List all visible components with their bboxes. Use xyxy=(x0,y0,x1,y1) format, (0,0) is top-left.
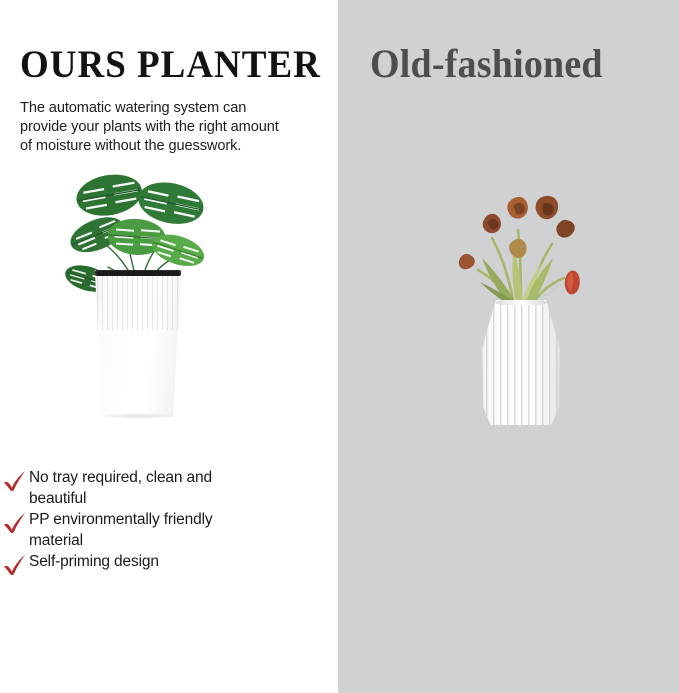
planter-ribbing xyxy=(92,270,184,330)
planter-shadow xyxy=(100,413,176,419)
list-item-line: Self-priming design xyxy=(29,552,159,573)
list-item: Self-priming design xyxy=(2,552,332,576)
ours-heading: OURS PLANTER xyxy=(20,45,321,84)
vase-fluting xyxy=(479,300,563,425)
list-item-line: No tray required, clean and xyxy=(29,468,212,489)
old-product-stage xyxy=(338,165,679,445)
ours-product-stage xyxy=(0,165,338,445)
check-icon xyxy=(2,554,28,576)
check-icon xyxy=(2,470,28,492)
panel-ours: OURS PLANTER The automatic watering syst… xyxy=(0,0,338,693)
white-square-planter-image xyxy=(92,270,184,417)
ours-description-line-3: of moisture without the guesswork. xyxy=(20,137,332,156)
old-fashioned-heading: Old-fashioned xyxy=(370,44,603,84)
list-item: PP environmentally friendly material xyxy=(2,510,332,551)
list-item-label: PP environmentally friendly material xyxy=(29,510,212,551)
ours-description: The automatic watering system can provid… xyxy=(20,99,332,156)
ours-description-line-2: provide your plants with the right amoun… xyxy=(20,118,332,137)
pros-list: No tray required, clean and beautiful PP… xyxy=(2,468,332,577)
list-item-line: beautiful xyxy=(29,489,212,510)
comparison-infographic: OURS PLANTER The automatic watering syst… xyxy=(0,0,679,693)
list-item-line: PP environmentally friendly xyxy=(29,510,212,531)
fluted-white-vase-image xyxy=(479,300,563,425)
list-item: No tray required, clean and beautiful xyxy=(2,468,332,509)
ours-description-line-1: The automatic watering system can xyxy=(20,99,332,118)
vase-mouth xyxy=(495,300,547,305)
panel-old-fashioned: Old-fashioned xyxy=(338,0,679,693)
check-icon xyxy=(2,512,28,534)
planter-soil xyxy=(97,271,179,276)
list-item-label: No tray required, clean and beautiful xyxy=(29,468,212,509)
list-item-line: material xyxy=(29,531,212,552)
list-item-label: Self-priming design xyxy=(29,552,159,573)
